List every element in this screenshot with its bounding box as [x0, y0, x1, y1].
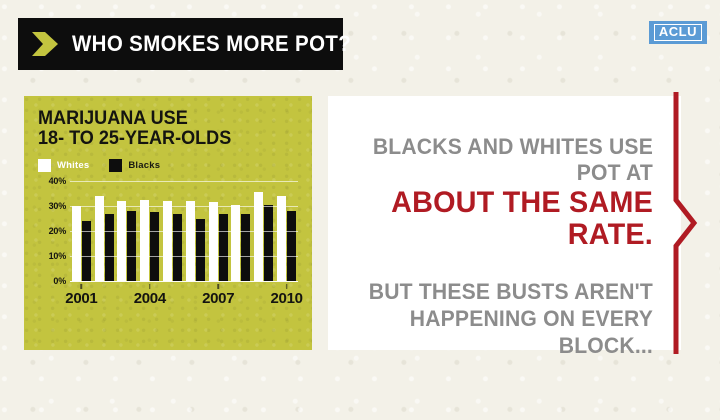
- legend-label-whites: Whites: [57, 160, 89, 171]
- bar-blacks: [127, 211, 136, 281]
- x-axis-tick-label: 2001: [65, 290, 97, 307]
- message-follow-line1: BUT THESE BUSTS AREN'T: [369, 279, 653, 304]
- bar-blacks: [150, 212, 159, 281]
- legend-item-whites: Whites: [38, 159, 89, 172]
- gridline: [70, 231, 298, 232]
- bar-whites: [186, 201, 195, 281]
- bar-whites: [95, 196, 104, 281]
- y-axis-tick-label: 10%: [49, 251, 66, 261]
- bar-blacks: [82, 221, 91, 281]
- x-axis-tick-label: 2010: [271, 290, 303, 307]
- y-axis-tick-label: 0%: [53, 276, 66, 286]
- bar-whites: [277, 196, 286, 281]
- y-axis-tick-label: 40%: [49, 176, 66, 186]
- chart-title: MARIJUANA USE 18- TO 25-YEAR-OLDS: [38, 109, 287, 149]
- y-axis: 0%10%20%30%40%: [38, 181, 68, 281]
- aclu-logo-text: ACLU: [654, 24, 702, 41]
- chart-panel: MARIJUANA USE 18- TO 25-YEAR-OLDS Whites…: [24, 96, 312, 350]
- message-panel: BLACKS AND WHITES USE POT AT ABOUT THE S…: [328, 96, 681, 350]
- chart-legend: Whites Blacks: [38, 159, 300, 172]
- gridline: [70, 206, 298, 207]
- bar-whites: [117, 201, 126, 281]
- legend-label-blacks: Blacks: [128, 160, 160, 171]
- white-swatch-icon: [38, 159, 51, 172]
- infographic-canvas: WHO SMOKES MORE POT? ACLU MARIJUANA USE …: [0, 0, 720, 420]
- y-axis-tick-label: 20%: [49, 226, 66, 236]
- bar-whites: [163, 201, 172, 281]
- bar-blacks: [241, 214, 250, 282]
- chart-title-line2: 18- TO 25-YEAR-OLDS: [38, 129, 287, 149]
- chart-title-line1: MARIJUANA USE: [38, 108, 188, 129]
- message-lead-text: BLACKS AND WHITES USE POT AT: [358, 134, 653, 186]
- x-axis-tick-label: 2007: [202, 290, 234, 307]
- plot-wrapper: 0%10%20%30%40% 2001200420072010: [38, 181, 300, 306]
- x-axis-tick-mark: [286, 284, 288, 289]
- bar-blacks: [196, 219, 205, 282]
- message-follow-line2: HAPPENING ON EVERY BLOCK...: [358, 305, 653, 359]
- x-axis-tick-mark: [149, 284, 151, 289]
- message-follow-text: BUT THESE BUSTS AREN'T HAPPENING ON EVER…: [358, 278, 653, 359]
- bar-blacks: [219, 214, 228, 282]
- bar-blacks: [264, 205, 273, 281]
- aclu-logo[interactable]: ACLU: [649, 21, 707, 44]
- x-axis: 2001200420072010: [70, 282, 298, 306]
- black-swatch-icon: [109, 159, 122, 172]
- bar-blacks: [287, 211, 296, 281]
- plot-area: [70, 181, 298, 281]
- header-bar: WHO SMOKES MORE POT?: [18, 18, 343, 70]
- bar-blacks: [173, 214, 182, 282]
- chevron-right-icon: [32, 30, 58, 58]
- bar-whites: [231, 205, 240, 281]
- x-axis-tick-label: 2004: [134, 290, 166, 307]
- gridline: [70, 256, 298, 257]
- bar-whites: [72, 206, 81, 281]
- gridline: [70, 181, 298, 182]
- page-title: WHO SMOKES MORE POT?: [72, 31, 351, 57]
- y-axis-tick-label: 30%: [49, 201, 66, 211]
- legend-item-blacks: Blacks: [109, 159, 160, 172]
- chevron-right-bracket-icon: [672, 92, 702, 354]
- bar-blacks: [105, 214, 114, 282]
- x-axis-tick-mark: [217, 284, 219, 289]
- message-emphasis-text: ABOUT THE SAME RATE.: [358, 187, 653, 251]
- bar-whites: [209, 202, 218, 281]
- bar-whites: [140, 200, 149, 281]
- x-axis-tick-mark: [81, 284, 83, 289]
